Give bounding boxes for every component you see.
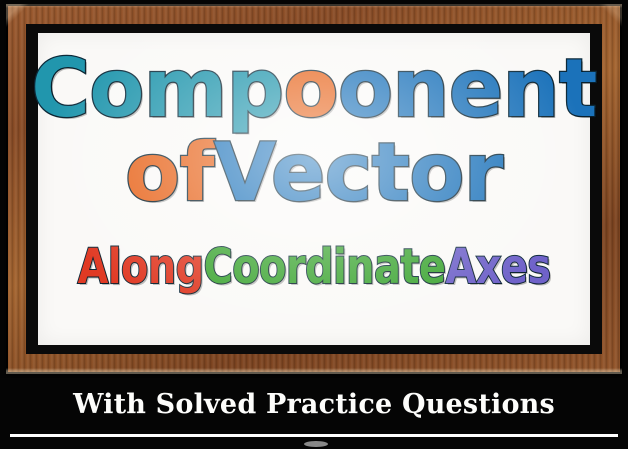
- title-line-1: Compoonent: [31, 49, 597, 129]
- subtitle-word-along: Along: [77, 243, 203, 291]
- title-word-comp: Comp: [31, 49, 283, 129]
- title-line-3: Along Coordinate Axes: [77, 243, 550, 291]
- title-word-onent: onent: [338, 49, 597, 129]
- caption-bar: With Solved Practice Questions: [0, 378, 628, 430]
- bottom-highlight-blip: [304, 441, 328, 447]
- title-word-vector: Vector: [214, 133, 503, 213]
- caption-text: With Solved Practice Questions: [73, 389, 555, 420]
- subtitle-word-axes: Axes: [445, 243, 550, 291]
- subtitle-word-coordinate: Coordinate: [204, 243, 446, 291]
- bottom-divider-rule: [10, 434, 618, 437]
- whiteboard-panel: Compoonent of Vector Along Coordinate Ax…: [38, 33, 590, 345]
- title-line-2: of Vector: [125, 133, 503, 213]
- title-letter-o: o: [283, 49, 337, 129]
- title-word-of: of: [125, 133, 214, 213]
- poster-root: Compoonent of Vector Along Coordinate Ax…: [0, 0, 628, 449]
